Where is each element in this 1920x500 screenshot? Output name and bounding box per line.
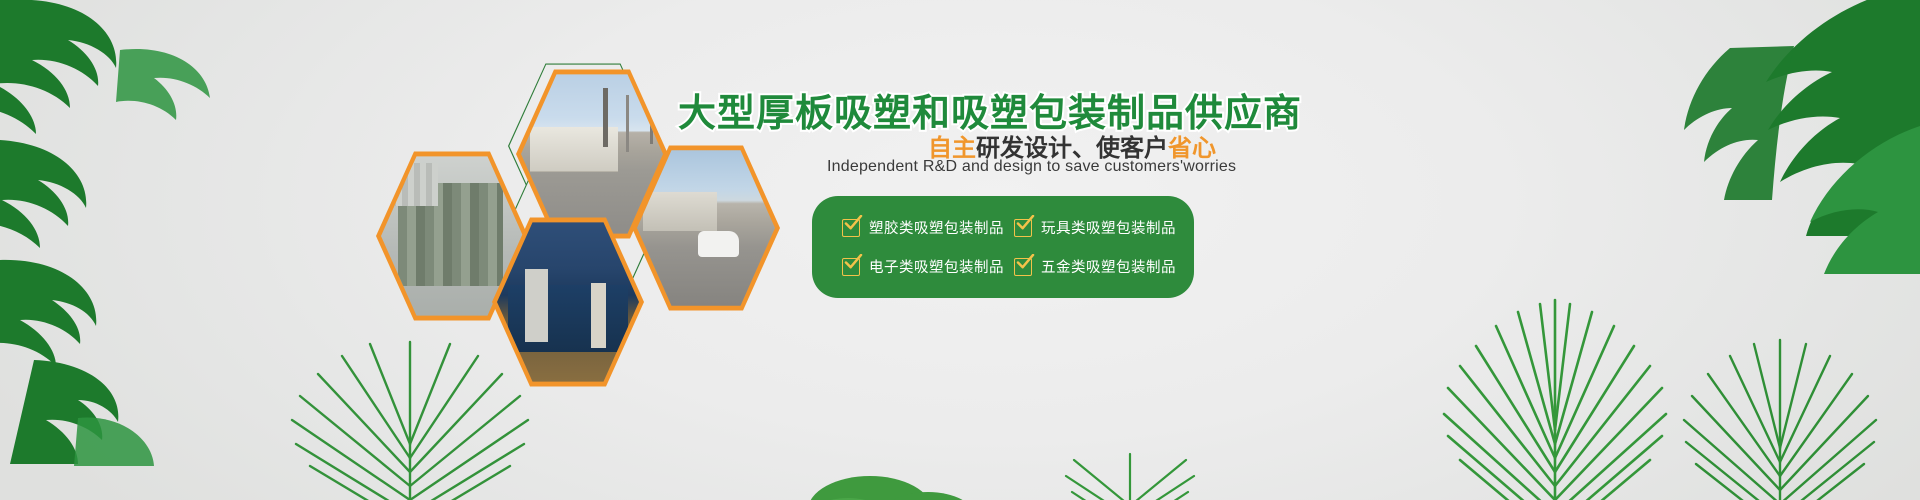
check-mark-icon: [1016, 254, 1035, 271]
feature-item-plastic: 塑胶类吸塑包装制品: [842, 217, 1004, 238]
check-mark-icon: [844, 215, 863, 232]
banner-english-tagline: Independent R&D and design to save custo…: [827, 158, 1236, 176]
hex-photo-street-image: [637, 147, 775, 309]
check-box-icon: [1014, 258, 1032, 276]
palm-frond-icon: [1600, 310, 1920, 500]
check-mark-icon: [1016, 215, 1035, 232]
check-mark-icon: [844, 254, 863, 271]
check-box-icon: [842, 219, 860, 237]
palm-frond-icon: [1000, 414, 1260, 500]
feature-card: 塑胶类吸塑包装制品 玩具类吸塑包装制品 电子类吸塑包: [812, 196, 1194, 298]
feature-label: 电子类吸塑包装制品: [869, 256, 1004, 277]
monstera-leaf-icon: [0, 0, 330, 490]
feature-label: 五金类吸塑包装制品: [1041, 256, 1176, 277]
hex-photo-factory-image: [497, 219, 639, 385]
feature-item-hardware: 五金类吸塑包装制品: [1014, 256, 1176, 277]
promo-banner: 大型厚板吸塑和吸塑包装制品供应商 自主研发设计、使客户省心 Independen…: [0, 0, 1920, 500]
monstera-leaf-icon: [1420, 0, 1920, 316]
feature-label: 玩具类吸塑包装制品: [1041, 217, 1176, 238]
shrub-icon: [760, 390, 1060, 500]
check-box-icon: [1014, 219, 1032, 237]
palm-frond-icon: [1340, 260, 1770, 500]
feature-item-toys: 玩具类吸塑包装制品: [1014, 217, 1176, 238]
check-box-icon: [842, 258, 860, 276]
feature-item-electronics: 电子类吸塑包装制品: [842, 256, 1004, 277]
feature-label: 塑胶类吸塑包装制品: [869, 217, 1004, 238]
